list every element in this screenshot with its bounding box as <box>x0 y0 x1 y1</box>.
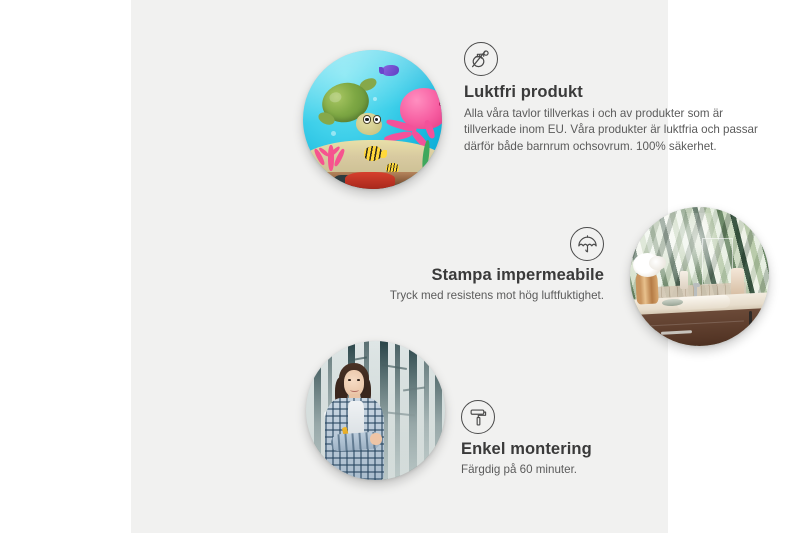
feature-icon-wrap <box>324 227 604 261</box>
feature-title: Enkel montering <box>461 440 741 459</box>
feature-body: Färgdig på 60 minuter. <box>461 462 741 478</box>
feature-body: Alla våra tavlor tillverkas i och av pro… <box>464 106 764 155</box>
feature-block-montering: Enkel montering Färgdig på 60 minuter. <box>461 400 741 478</box>
feature-title: Luktfri produkt <box>464 83 764 102</box>
feature-block-luktfri: Luktfri produkt Alla våra tavlor tillver… <box>464 42 764 155</box>
no-odour-spray-bottle-icon <box>464 42 498 76</box>
feature-icon-wrap <box>461 400 741 434</box>
woman-face <box>344 370 365 396</box>
paint-roller-icon <box>461 400 495 434</box>
screenshot-root: Luktfri produkt Alla våra tavlor tillver… <box>0 0 800 533</box>
product-image-bathroom-wallpaper[interactable] <box>630 207 769 346</box>
content-panel: Luktfri produkt Alla våra tavlor tillver… <box>131 0 668 533</box>
coral-icon <box>314 135 350 171</box>
product-image-forest-mural[interactable] <box>306 341 445 480</box>
product-image-underwater-mural[interactable] <box>303 50 442 189</box>
underwater-scene-art <box>303 50 442 189</box>
feature-body: Tryck med resistens mot hög luftfuktighe… <box>324 288 604 304</box>
umbrella-icon <box>570 227 604 261</box>
feature-block-impermeabile: Stampa impermeabile Tryck med resistens … <box>324 227 604 304</box>
forest-woman-scene-art <box>306 341 445 480</box>
feature-icon-wrap <box>464 42 764 76</box>
feature-title: Stampa impermeabile <box>324 266 604 285</box>
bathroom-scene-art <box>630 207 769 346</box>
